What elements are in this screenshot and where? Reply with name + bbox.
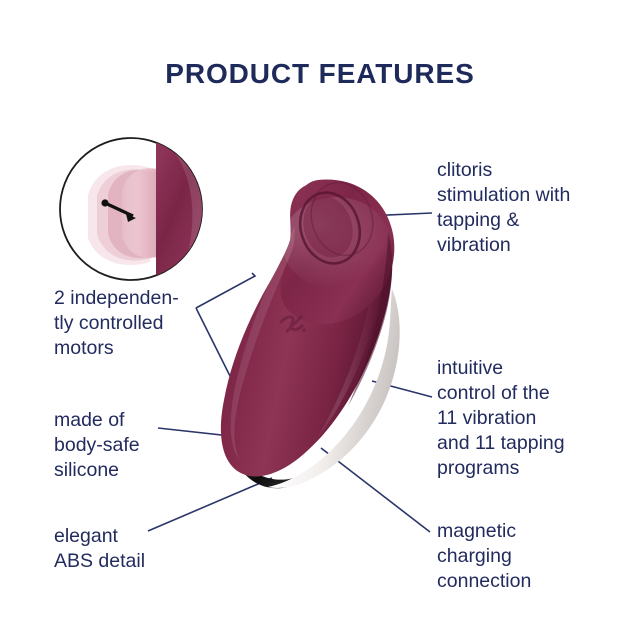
product-device xyxy=(221,175,400,489)
inset-body xyxy=(152,138,232,304)
callout-magnetic-charging: magnetic charging connection xyxy=(437,519,627,594)
inset-pressure-waves xyxy=(88,165,162,265)
callout-body-safe-silicone: made of body-safe silicone xyxy=(54,408,234,483)
callout-intuitive-control: intuitive control of the 11 vibration an… xyxy=(437,356,627,481)
infographic-page: PRODUCT FEATURES xyxy=(0,0,640,640)
magnified-inset xyxy=(60,138,232,304)
callout-independent-motors: 2 independen- tly controlled motors xyxy=(54,286,239,361)
callout-elegant-abs-detail: elegant ABS detail xyxy=(54,524,234,574)
callout-clitoris-stimulation: clitoris stimulation with tapping & vibr… xyxy=(437,158,627,258)
